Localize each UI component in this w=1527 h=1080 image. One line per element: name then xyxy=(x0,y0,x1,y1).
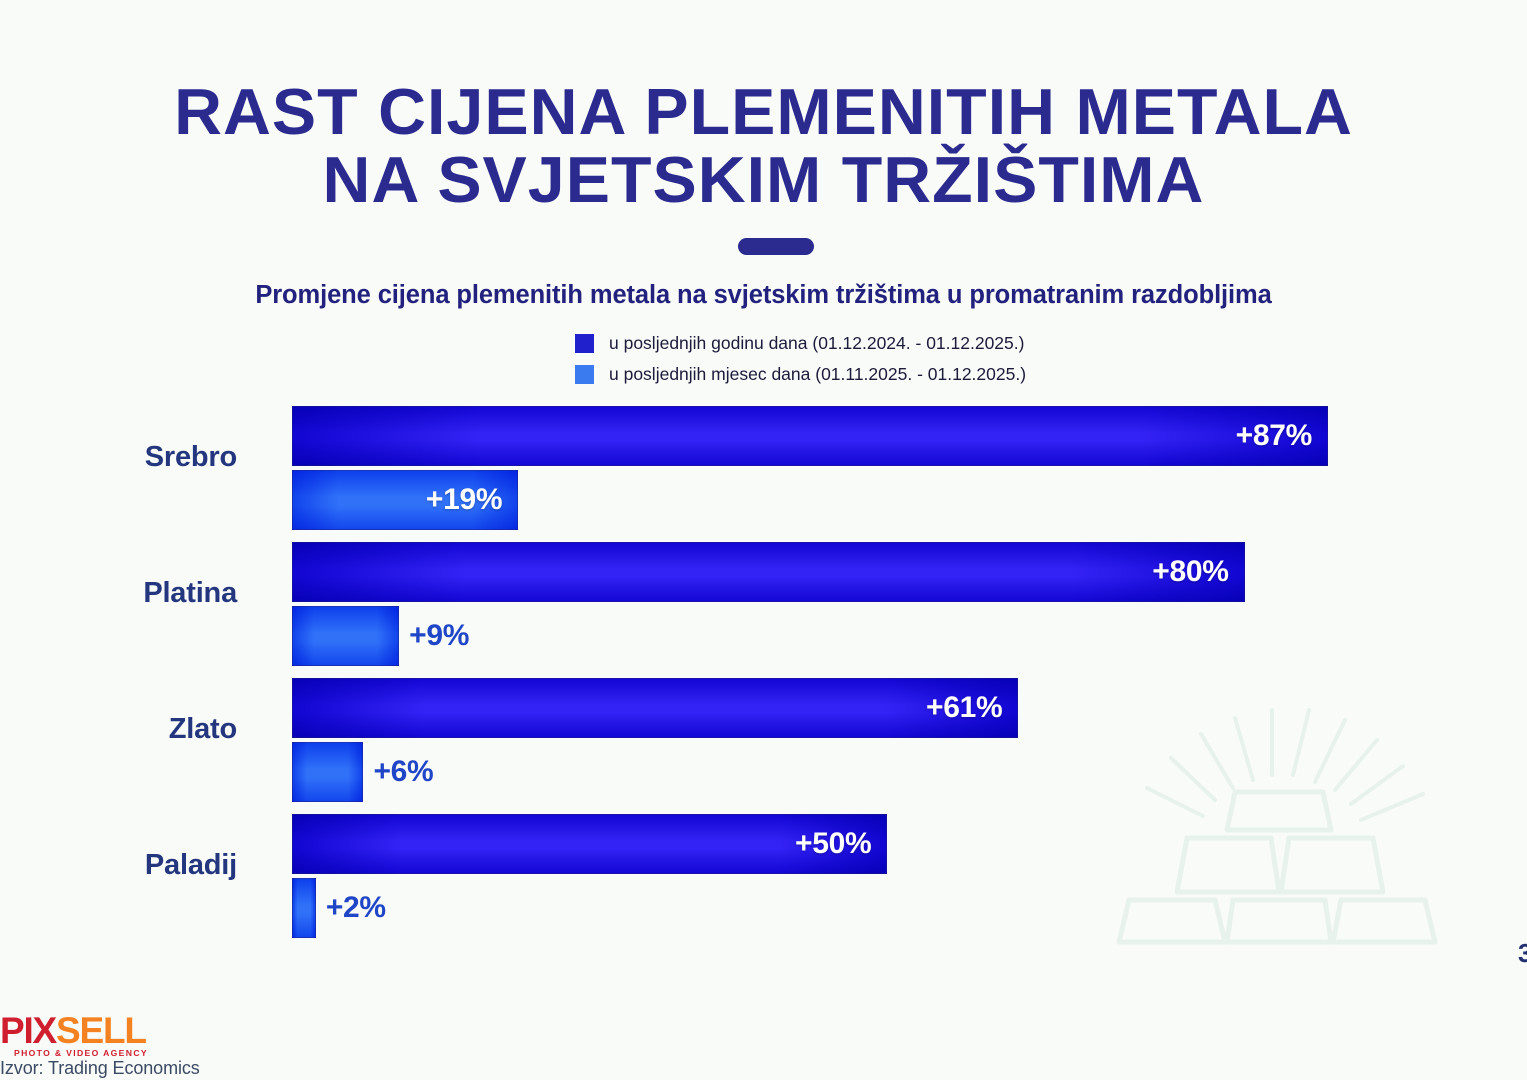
bar-value-paladij-year: +50% xyxy=(292,814,871,874)
category-label-paladij: Paladij xyxy=(0,849,237,882)
category-label-platina: Platina xyxy=(0,577,237,610)
category-label-srebro: Srebro xyxy=(0,441,237,474)
infographic-canvas: RAST CIJENA PLEMENITIH METALA NA SVJETSK… xyxy=(0,0,1527,1080)
category-label-zlato: Zlato xyxy=(0,713,237,746)
page-number: 3 xyxy=(1518,938,1527,969)
bar-value-paladij-month: +2% xyxy=(326,878,386,938)
bar-value-zlato-month: +6% xyxy=(373,742,433,802)
bar-value-platina-year: +80% xyxy=(292,542,1229,602)
bar-chart: Srebro+87%+19%Platina+80%+9%Zlato+61%+6%… xyxy=(0,0,1527,1080)
bar-value-platina-month: +9% xyxy=(409,606,469,666)
bar-value-srebro-year: +87% xyxy=(292,406,1312,466)
bar-platina-month[interactable] xyxy=(292,606,399,666)
pixsell-logo: PIXSELL PHOTO & VIDEO AGENCY xyxy=(0,1012,160,1058)
source-label: Izvor: Trading Economics xyxy=(0,1058,200,1079)
pixsell-pix: PIX xyxy=(0,1010,56,1051)
bar-value-srebro-month: +19% xyxy=(292,470,502,530)
pixsell-sell: SELL xyxy=(56,1010,146,1051)
bar-value-zlato-year: +61% xyxy=(292,678,1002,738)
bar-paladij-month[interactable] xyxy=(292,878,316,938)
bar-zlato-month[interactable] xyxy=(292,742,363,802)
pixsell-wordmark: PIXSELL xyxy=(0,1012,160,1050)
pixsell-tagline: PHOTO & VIDEO AGENCY xyxy=(0,1048,160,1058)
